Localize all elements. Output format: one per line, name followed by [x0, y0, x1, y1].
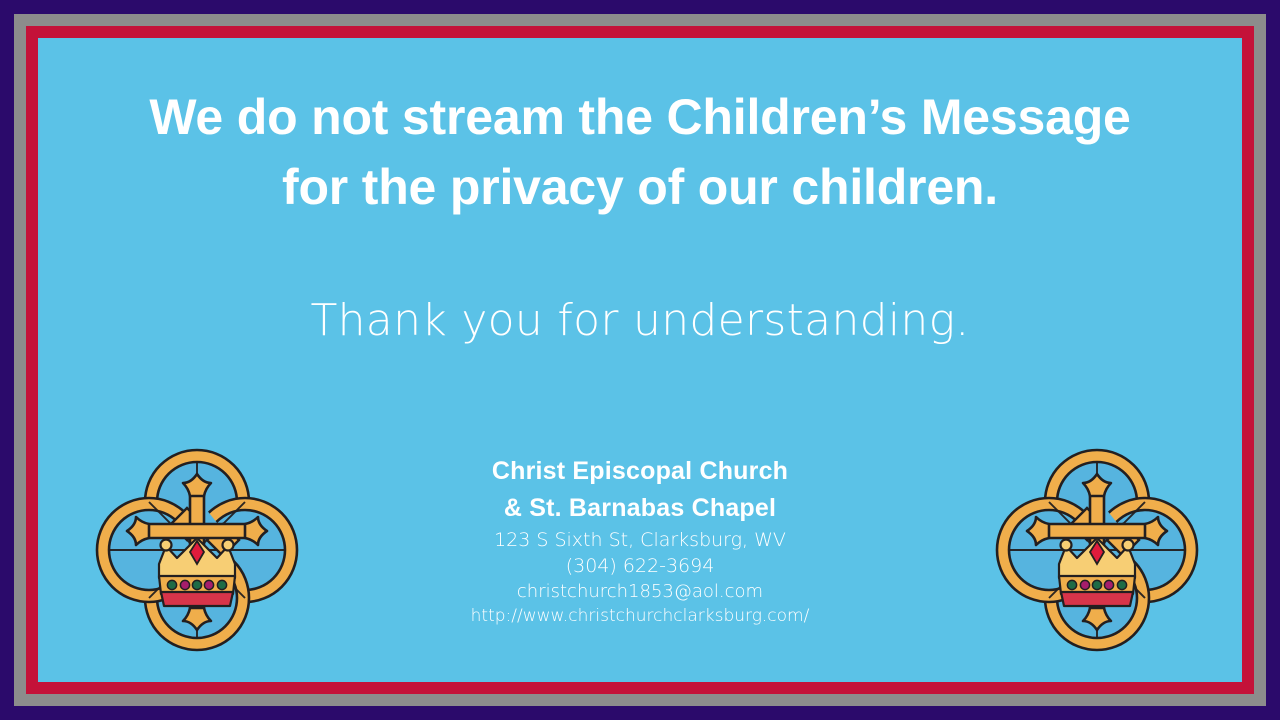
- church-emblem-right-icon: [987, 440, 1207, 660]
- slide-border-gray: We do not stream the Children’s Message …: [14, 14, 1266, 706]
- subtitle: Thank you for understanding.: [38, 292, 1242, 350]
- headline-line-1: We do not stream the Children’s Message: [38, 82, 1242, 152]
- headline-line-2: for the privacy of our children.: [38, 152, 1242, 222]
- slide-canvas: We do not stream the Children’s Message …: [38, 38, 1242, 682]
- slide-root: We do not stream the Children’s Message …: [0, 0, 1280, 720]
- slide-border-crimson: We do not stream the Children’s Message …: [26, 26, 1254, 694]
- church-emblem-left-icon: [87, 440, 307, 660]
- headline: We do not stream the Children’s Message …: [38, 82, 1242, 222]
